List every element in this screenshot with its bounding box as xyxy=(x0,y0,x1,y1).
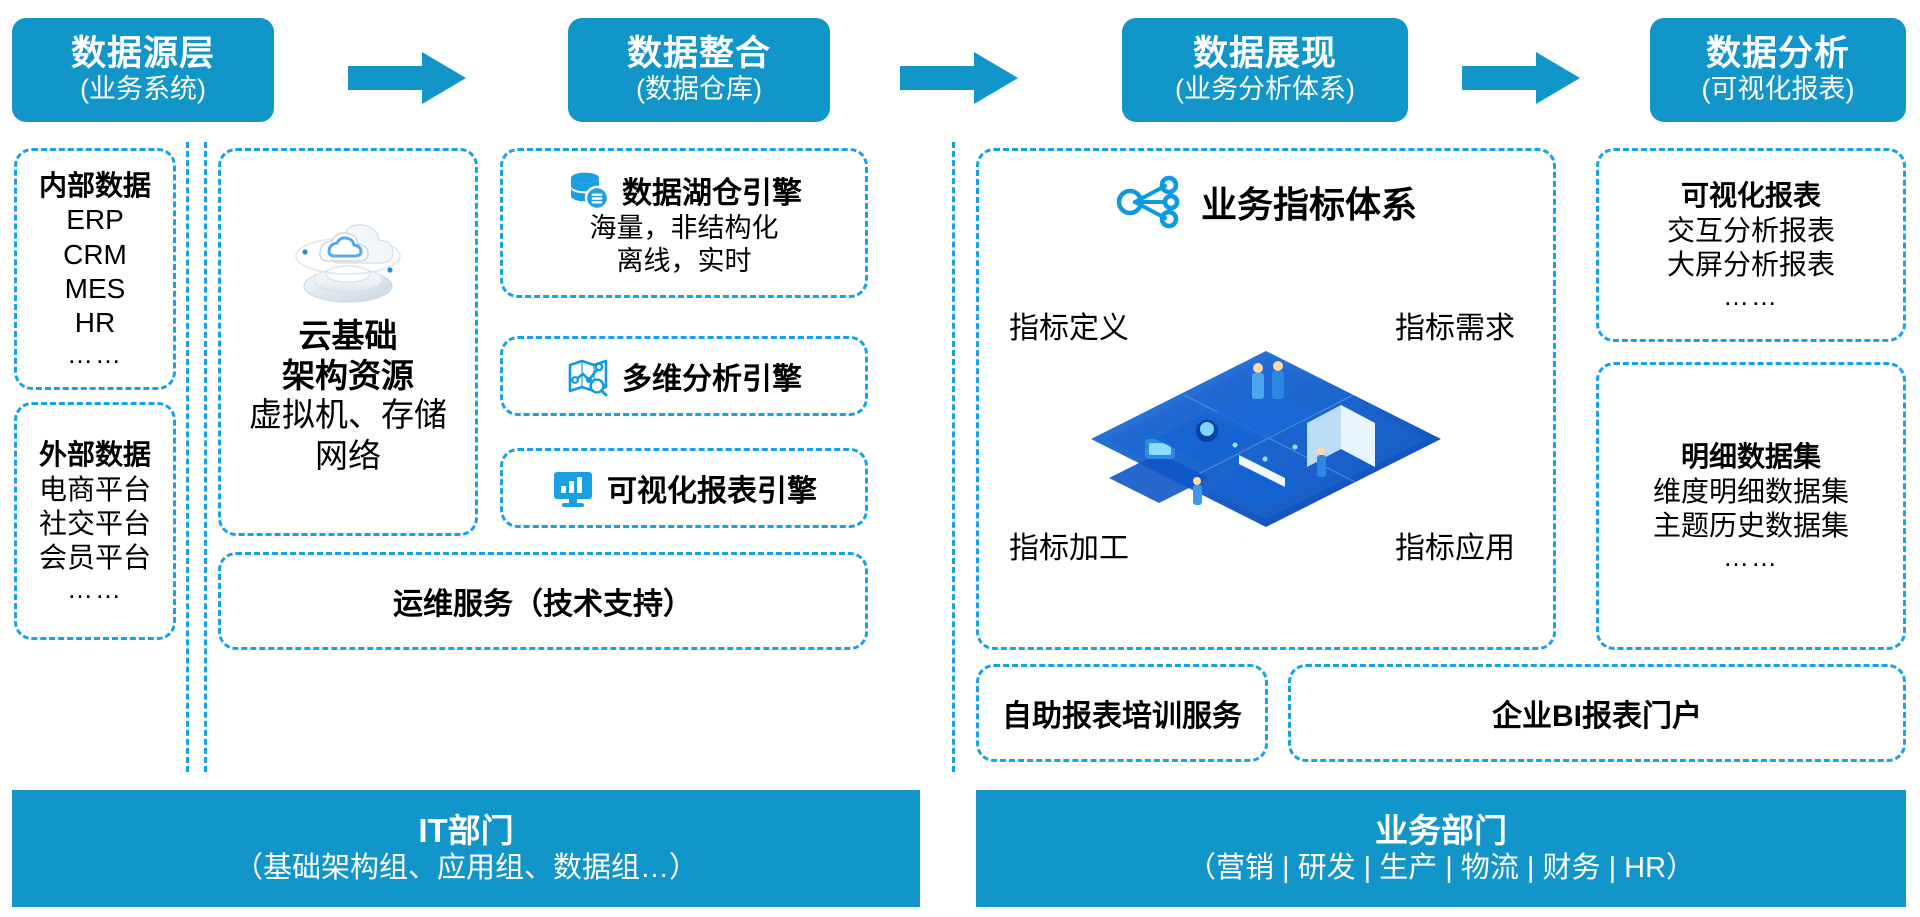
arrow-right-icon xyxy=(348,50,468,106)
footer-business-department[interactable]: 业务部门 （营销 | 研发 | 生产 | 物流 | 财务 | HR） xyxy=(976,790,1906,907)
stage-title: 数据源层 xyxy=(71,34,215,73)
engine-description-line: 离线，实时 xyxy=(617,245,752,278)
internal-data-panel[interactable]: 内部数据 ERP CRM MES HR …… xyxy=(14,148,176,390)
data-lake-engine-panel[interactable]: 数据湖仓引擎 海量，非结构化 离线，实时 xyxy=(500,148,868,298)
footer-business-title: 业务部门 xyxy=(1375,812,1507,851)
stage-box-data-source[interactable]: 数据源层 (业务系统) xyxy=(12,18,274,122)
training-service-panel[interactable]: 自助报表培训服务 xyxy=(976,664,1268,762)
stage-subtitle: (业务分析体系) xyxy=(1175,73,1355,105)
cloud-title-line1: 云基础 xyxy=(299,316,398,356)
stage-header-row: 数据源层 (业务系统) 数据整合 (数据仓库) 数据展现 (业务分析体系) 数据… xyxy=(0,0,1920,140)
cloud-infrastructure-panel[interactable]: 云基础 架构资源 虚拟机、存储 网络 xyxy=(218,148,478,536)
stage-box-data-analysis[interactable]: 数据分析 (可视化报表) xyxy=(1650,18,1906,122)
detail-datasets-item: 维度明细数据集 xyxy=(1653,475,1849,509)
arrow-right-icon xyxy=(1462,50,1582,106)
bi-portal-panel[interactable]: 企业BI报表门户 xyxy=(1288,664,1906,762)
stage-subtitle: (可视化报表) xyxy=(1702,73,1855,105)
footer-business-subtitle: （营销 | 研发 | 生产 | 物流 | 财务 | HR） xyxy=(1187,851,1695,886)
olap-engine-panel[interactable]: 多维分析引擎 xyxy=(500,336,868,416)
it-business-divider xyxy=(952,142,955,772)
external-data-item: 社交平台 xyxy=(39,507,151,541)
internal-data-item: HR xyxy=(75,306,115,340)
cloud-subtitle-line1: 虚拟机、存储 xyxy=(249,395,447,435)
internal-data-item: ERP xyxy=(66,203,124,237)
internal-data-item: CRM xyxy=(63,238,127,272)
engine-title: 数据湖仓引擎 xyxy=(622,168,802,212)
internal-data-title: 内部数据 xyxy=(39,169,151,203)
visualization-reports-panel[interactable]: 可视化报表 交互分析报表 大屏分析报表 …… xyxy=(1596,148,1906,342)
external-data-panel[interactable]: 外部数据 电商平台 社交平台 会员平台 …… xyxy=(14,402,176,640)
training-service-label: 自助报表培训服务 xyxy=(1002,691,1242,735)
column-divider-left-outer xyxy=(204,142,207,772)
viz-reports-item: 大屏分析报表 xyxy=(1667,248,1835,282)
map-analysis-icon xyxy=(566,354,610,398)
cloud-subtitle-line2: 网络 xyxy=(315,436,381,476)
column-divider-left-inner xyxy=(186,142,189,772)
share-network-icon xyxy=(1115,173,1181,231)
cloud-server-icon xyxy=(282,208,414,312)
detail-datasets-panel[interactable]: 明细数据集 维度明细数据集 主题历史数据集 …… xyxy=(1596,362,1906,650)
department-footer-row: IT部门 （基础架构组、应用组、数据组…） 业务部门 （营销 | 研发 | 生产… xyxy=(0,790,1920,917)
viz-reports-ellipsis: …… xyxy=(1723,282,1779,311)
stage-title: 数据分析 xyxy=(1706,34,1850,73)
detail-datasets-title: 明细数据集 xyxy=(1681,440,1821,474)
footer-it-subtitle: （基础架构组、应用组、数据组…） xyxy=(234,851,698,886)
stage-title: 数据展现 xyxy=(1193,34,1337,73)
bi-portal-label: 企业BI报表门户 xyxy=(1492,691,1702,735)
footer-it-title: IT部门 xyxy=(418,812,513,851)
metric-system-title: 业务指标体系 xyxy=(1201,176,1417,228)
engine-title: 多维分析引擎 xyxy=(622,354,802,398)
external-data-item: 电商平台 xyxy=(39,473,151,507)
metric-quadrants: 指标定义 指标需求 指标加工 指标应用 xyxy=(979,231,1553,623)
monitor-chart-icon xyxy=(551,466,595,510)
external-data-item: 会员平台 xyxy=(39,541,151,575)
detail-datasets-ellipsis: …… xyxy=(1723,543,1779,572)
stage-subtitle: (业务系统) xyxy=(80,73,206,105)
viz-reports-title: 可视化报表 xyxy=(1681,179,1821,213)
internal-data-ellipsis: …… xyxy=(67,340,123,369)
footer-it-department[interactable]: IT部门 （基础架构组、应用组、数据组…） xyxy=(12,790,920,907)
stage-box-data-integration[interactable]: 数据整合 (数据仓库) xyxy=(568,18,830,122)
architecture-body: 内部数据 ERP CRM MES HR …… 外部数据 电商平台 社交平台 会员… xyxy=(0,140,1920,780)
stage-subtitle: (数据仓库) xyxy=(636,73,762,105)
internal-data-item: MES xyxy=(65,272,126,306)
stage-box-data-presentation[interactable]: 数据展现 (业务分析体系) xyxy=(1122,18,1408,122)
viz-reports-item: 交互分析报表 xyxy=(1667,214,1835,248)
detail-datasets-item: 主题历史数据集 xyxy=(1653,509,1849,543)
arrow-right-icon xyxy=(900,50,1020,106)
isometric-data-platform-illustration xyxy=(1089,335,1443,543)
stage-title: 数据整合 xyxy=(627,34,771,73)
database-stack-icon xyxy=(566,168,610,212)
external-data-ellipsis: …… xyxy=(67,575,123,604)
ops-service-panel[interactable]: 运维服务（技术支持） xyxy=(218,552,868,650)
cloud-title-line2: 架构资源 xyxy=(282,356,414,396)
business-metric-system-panel[interactable]: 业务指标体系 指标定义 指标需求 指标加工 指标应用 xyxy=(976,148,1556,650)
external-data-title: 外部数据 xyxy=(39,438,151,472)
visualization-engine-panel[interactable]: 可视化报表引擎 xyxy=(500,448,868,528)
ops-service-label: 运维服务（技术支持） xyxy=(393,579,693,623)
engine-title: 可视化报表引擎 xyxy=(607,466,817,510)
engine-description-line: 海量，非结构化 xyxy=(590,212,779,245)
